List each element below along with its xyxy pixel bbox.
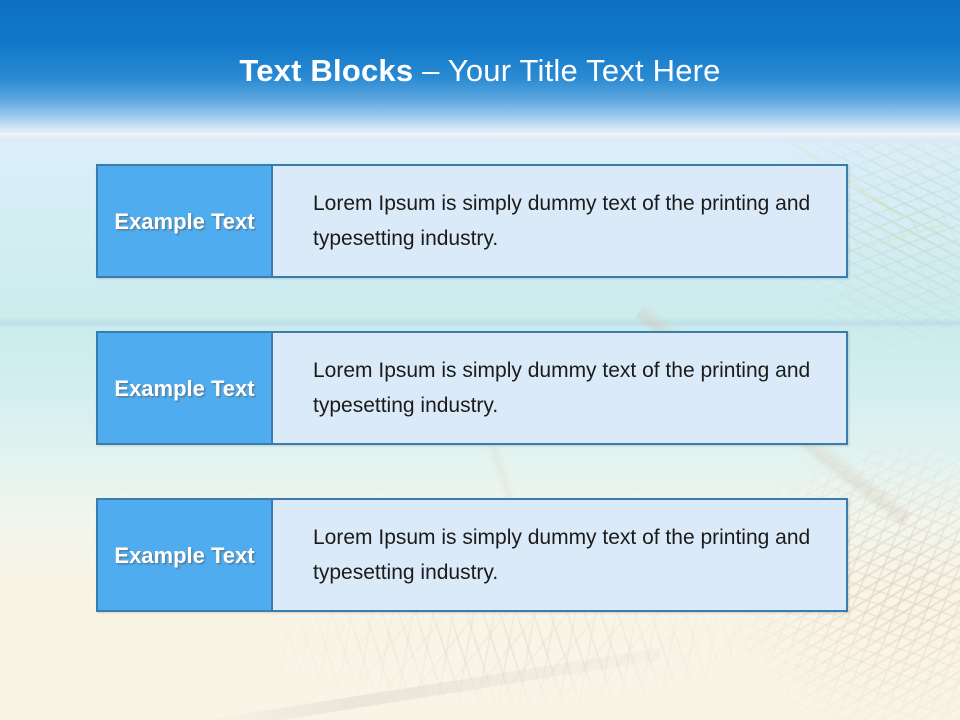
text-block-row[interactable]: Example Text Lorem Ipsum is simply dummy… [96,498,848,612]
text-block-body: Lorem Ipsum is simply dummy text of the … [273,186,846,256]
text-block-body: Lorem Ipsum is simply dummy text of the … [273,520,846,590]
text-block-body-box[interactable]: Lorem Ipsum is simply dummy text of the … [273,500,846,610]
text-block-body-box[interactable]: Lorem Ipsum is simply dummy text of the … [273,333,846,443]
page-title: Text Blocks – Your Title Text Here [0,51,960,91]
page-title-strong: Text Blocks [239,53,422,88]
slide: Text Blocks – Your Title Text Here Examp… [0,0,960,720]
text-block-label: Example Text [106,206,262,237]
text-block-body: Lorem Ipsum is simply dummy text of the … [273,353,846,423]
text-block-label: Example Text [106,540,262,571]
text-block-label: Example Text [106,373,262,404]
page-title-light: – Your Title Text Here [422,53,721,88]
text-block-row[interactable]: Example Text Lorem Ipsum is simply dummy… [96,331,848,445]
text-blocks-list: Example Text Lorem Ipsum is simply dummy… [96,164,848,612]
text-block-body-box[interactable]: Lorem Ipsum is simply dummy text of the … [273,166,846,276]
header-divider-band [0,133,960,142]
text-block-label-box[interactable]: Example Text [98,333,273,443]
text-block-row[interactable]: Example Text Lorem Ipsum is simply dummy… [96,164,848,278]
text-block-label-box[interactable]: Example Text [98,500,273,610]
text-block-label-box[interactable]: Example Text [98,166,273,276]
palm-shadow-on-sand [150,600,850,720]
